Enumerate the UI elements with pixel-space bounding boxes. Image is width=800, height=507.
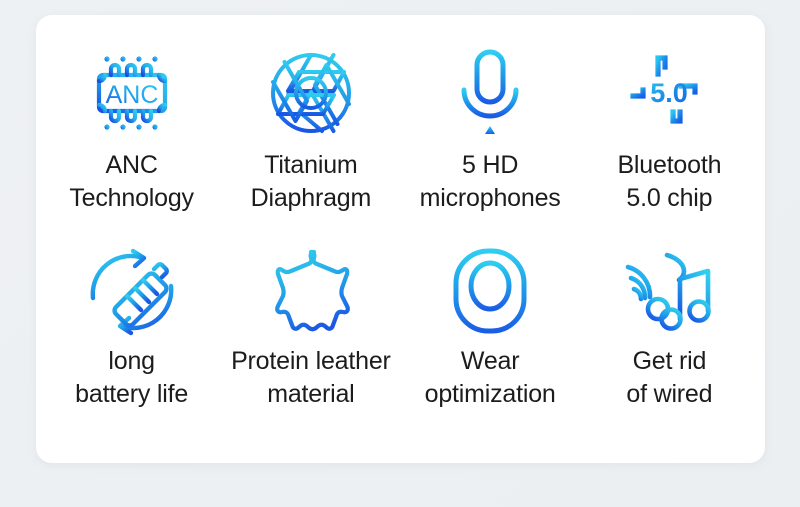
microphone-icon xyxy=(450,41,530,145)
feature-item-battery-life: long battery life xyxy=(42,243,221,445)
feature-label: Titanium Diaphragm xyxy=(251,149,371,215)
feature-label: Wear optimization xyxy=(425,345,556,411)
feature-item-wear-optimization: Wear optimization xyxy=(401,243,580,445)
leather-hide-icon xyxy=(265,243,357,341)
bluetooth-chip-icon: 5.0 xyxy=(615,41,723,145)
feature-label: 5 HD microphones xyxy=(420,149,561,215)
anc-icon-text: ANC xyxy=(105,81,158,109)
page-root: ANC ANC Technology xyxy=(0,0,800,507)
feature-label: long battery life xyxy=(75,345,188,411)
feature-label: Protein leather material xyxy=(231,345,391,411)
feature-grid: ANC ANC Technology xyxy=(36,15,765,463)
battery-recycle-icon xyxy=(85,243,179,341)
feature-item-hd-microphones: 5 HD microphones xyxy=(401,41,580,243)
feature-item-protein-leather: Protein leather material xyxy=(221,243,400,445)
bluetooth-icon-text: 5.0 xyxy=(651,78,689,108)
feature-card: ANC ANC Technology xyxy=(36,15,765,463)
feature-item-bluetooth-chip: 5.0 Bluetooth 5.0 chip xyxy=(580,41,759,243)
feature-label: Get rid of wired xyxy=(626,345,712,411)
aperture-diaphragm-icon xyxy=(265,41,357,145)
feature-item-get-rid-of-wired: Get rid of wired xyxy=(580,243,759,445)
feature-item-titanium-diaphragm: Titanium Diaphragm xyxy=(221,41,400,243)
anc-chip-icon: ANC xyxy=(83,41,181,145)
feature-label: ANC Technology xyxy=(69,149,193,215)
wireless-music-note-icon xyxy=(620,243,718,341)
feature-item-anc-technology: ANC ANC Technology xyxy=(42,41,221,243)
feature-label: Bluetooth 5.0 chip xyxy=(617,149,721,215)
ear-icon xyxy=(446,243,534,341)
